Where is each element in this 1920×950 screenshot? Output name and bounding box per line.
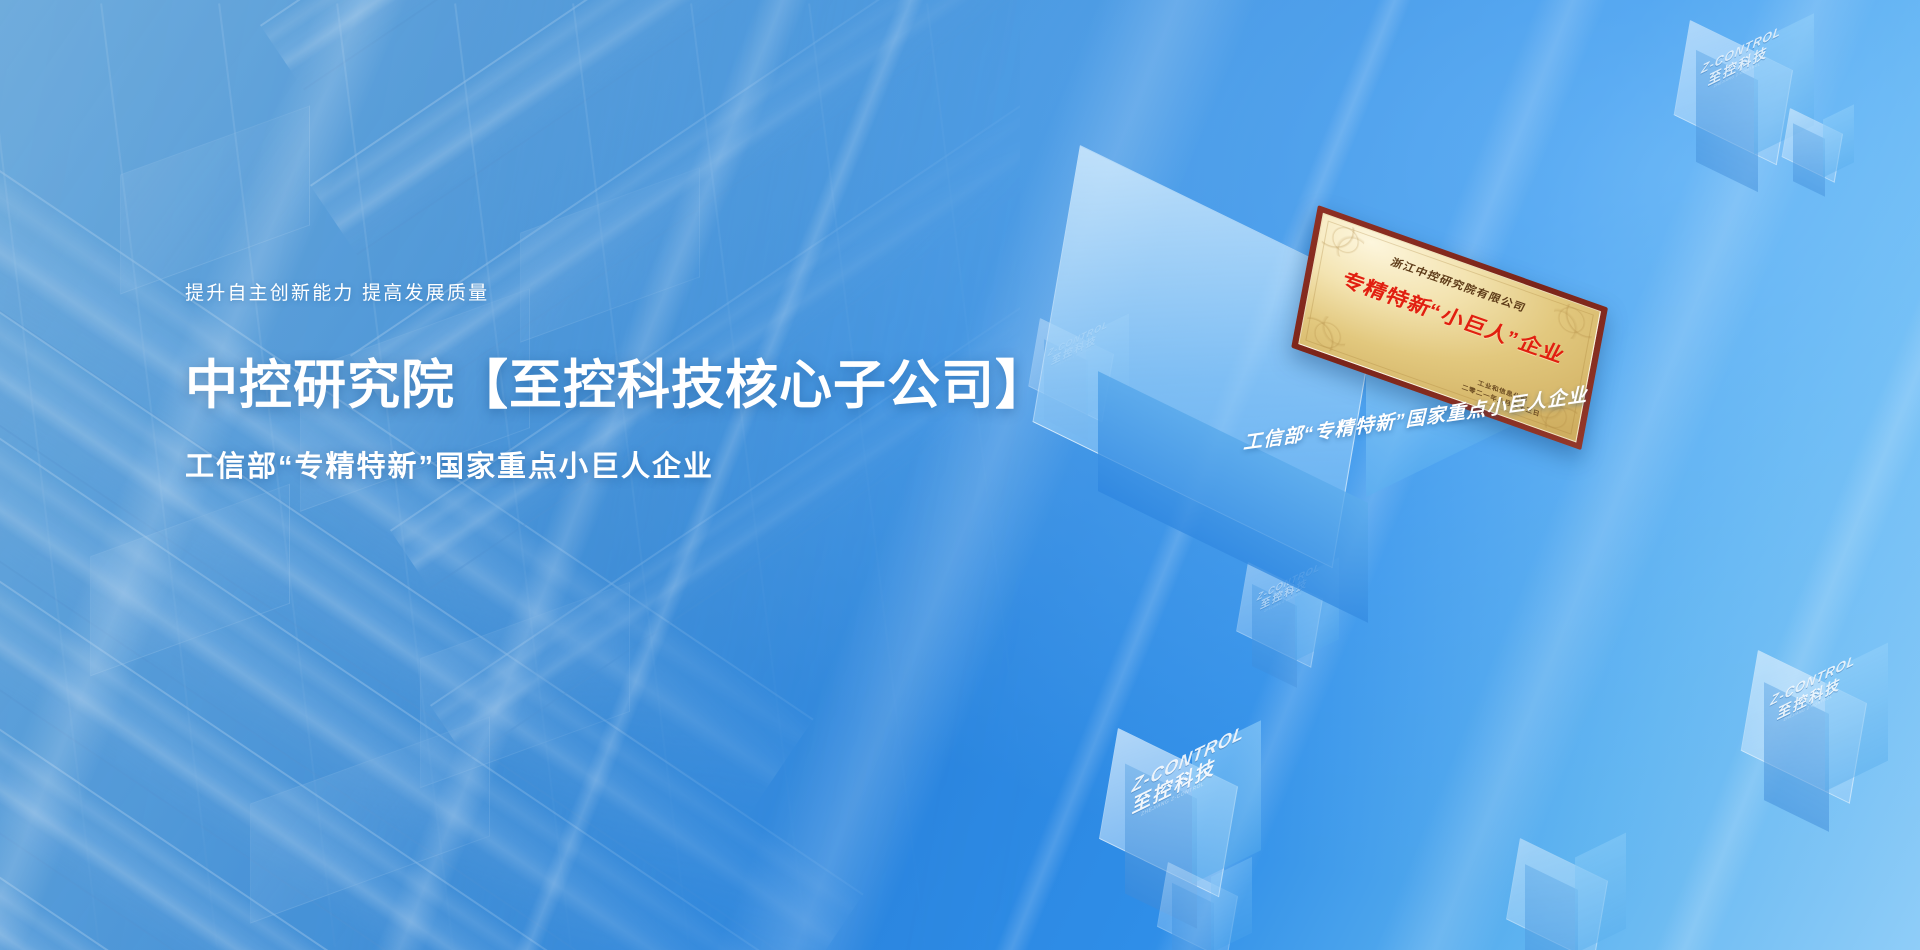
cube-top-right-small (1790, 108, 1897, 227)
hero-banner: Z-CONTROL至控科技ZHEJIANG Z-CONTROLZ-CONTROL… (0, 0, 1920, 950)
cube-right-face (1575, 832, 1626, 950)
cube-bottom-mid (1520, 838, 1697, 950)
cube-right-face (1825, 643, 1888, 792)
cube-right-face (1823, 104, 1854, 177)
cube-right-face (1211, 857, 1252, 950)
hero-headline: 中控研究院【至控科技核心子公司】 (185, 343, 1049, 419)
hero-tagline: 提升自主创新能力 提高发展质量 (185, 278, 1049, 305)
hero-copy-block: 提升自主创新能力 提高发展质量 中控研究院【至控科技核心子公司】 工信部“专精特… (185, 278, 1049, 485)
cube-bottom-right: Z-CONTROL至控科技ZHEJIANG Z-CONTROL (1758, 650, 1920, 893)
hero-subline: 工信部“专精特新”国家重点小巨人企业 (185, 443, 1049, 485)
cube-far-left (1168, 862, 1308, 950)
award-pedestal (1080, 145, 1540, 765)
